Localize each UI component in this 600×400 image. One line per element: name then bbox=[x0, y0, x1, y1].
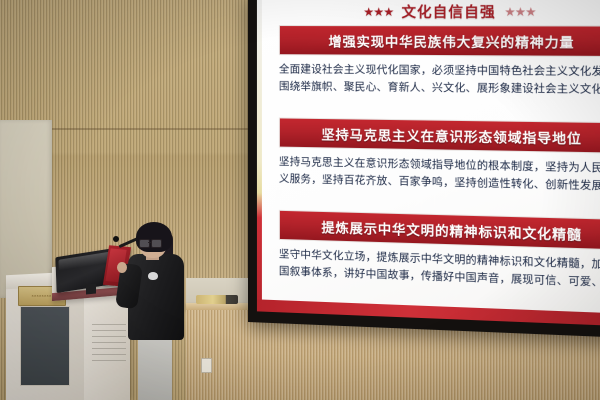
shelf-items bbox=[196, 295, 238, 304]
section-1-line-2: 围绕举旗帜、聚民心、育新人、兴文化、展形象建设社会主义文化强 bbox=[279, 79, 600, 100]
section-3-banner-text: 提炼展示中华文明的精神标识和文化精髓 bbox=[321, 216, 597, 243]
section-2-banner: 坚持马克思主义在意识形态领域指导地位 bbox=[279, 117, 600, 154]
eyeglasses-bridge bbox=[148, 242, 151, 243]
monitor-stand bbox=[86, 283, 96, 294]
slide-section-2: 坚持马克思主义在意识形态领域指导地位 坚持马克思主义在意识形态领域指导地位的根本… bbox=[279, 117, 600, 196]
speaker-hand bbox=[117, 262, 127, 273]
section-1-body: 全面建设社会主义现代化国家，必须坚持中国特色社会主义文化发展 围绕举旗帜、聚民心… bbox=[279, 61, 600, 100]
stars-left-icon: ★★★ bbox=[363, 5, 393, 19]
jacket-logo bbox=[148, 272, 158, 280]
projection-screen: ★★★ 文化自信自强 ★★★ 增强实现中华民族伟大复兴的精神力量 全面建设社会主… bbox=[248, 0, 600, 338]
podium-front-panel bbox=[20, 306, 70, 386]
section-1-banner-text: 增强实现中华民族伟大复兴的精神力量 bbox=[328, 31, 589, 51]
eyeglasses-icon bbox=[139, 239, 163, 246]
section-2-body: 坚持马克思主义在意识形态领域指导地位的根本制度，坚持为人民服 义服务，坚持百花齐… bbox=[279, 154, 600, 197]
section-1-banner: 增强实现中华民族伟大复兴的精神力量 bbox=[279, 25, 600, 57]
slide-left-accent-bar bbox=[257, 0, 262, 312]
wall-power-outlet bbox=[201, 358, 212, 373]
section-3-banner: 提炼展示中华文明的精神标识和文化精髓 bbox=[279, 210, 600, 251]
stars-right-icon: ★★★ bbox=[504, 5, 535, 20]
presentation-slide: ★★★ 文化自信自强 ★★★ 增强实现中华民族伟大复兴的精神力量 全面建设社会主… bbox=[257, 0, 600, 327]
lecture-hall-photo: ★★★ 文化自信自强 ★★★ 增强实现中华民族伟大复兴的精神力量 全面建设社会主… bbox=[0, 0, 600, 400]
slide-title-text: 文化自信自强 bbox=[402, 2, 496, 23]
wall-beige-panel bbox=[0, 120, 52, 298]
podium-vent-slots bbox=[92, 324, 126, 364]
podium-plaque-text: ×××××××× bbox=[32, 294, 52, 299]
slide-section-3: 提炼展示中华文明的精神标识和文化精髓 坚守中华文化立场，提炼展示中华文明的精神标… bbox=[279, 210, 600, 294]
speaker-person bbox=[126, 224, 188, 400]
section-3-body: 坚守中华文化立场，提炼展示中华文明的精神标识和文化精髓，加快 国叙事体系，讲好中… bbox=[279, 246, 600, 294]
slide-section-1: 增强实现中华民族伟大复兴的精神力量 全面建设社会主义现代化国家，必须坚持中国特色… bbox=[279, 25, 600, 100]
microphone-head-icon bbox=[113, 236, 119, 242]
slide-title: ★★★ 文化自信自强 ★★★ bbox=[257, 0, 600, 23]
section-2-banner-text: 坚持马克思主义在意识形态领域指导地位 bbox=[321, 124, 597, 148]
